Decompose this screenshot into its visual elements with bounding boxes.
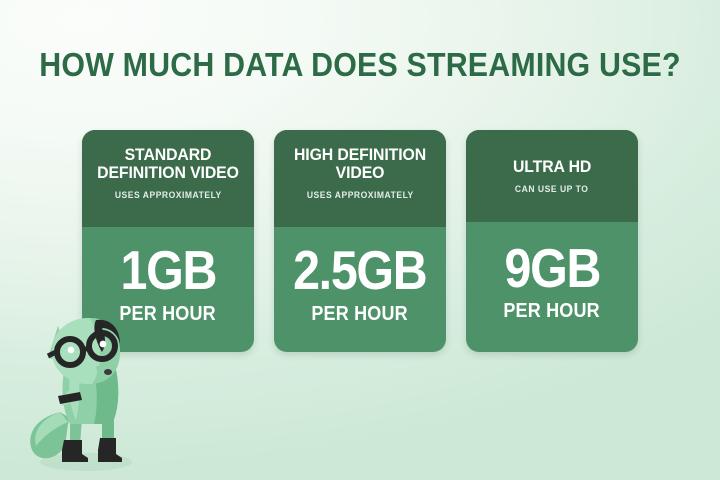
mascot-boot-left	[62, 440, 88, 462]
card-title: STANDARD DEFINITION VIDEO	[95, 146, 240, 181]
data-usage-card-high-definition: HIGH DEFINITION VIDEO USES APPROXIMATELY…	[274, 130, 446, 352]
card-subtitle: CAN USE UP TO	[515, 184, 588, 194]
card-header: HIGH DEFINITION VIDEO USES APPROXIMATELY	[274, 130, 446, 227]
card-subtitle: USES APPROXIMATELY	[307, 190, 414, 200]
card-title: ULTRA HD	[513, 146, 591, 176]
card-amount-value: 1GB	[120, 245, 216, 296]
card-amount-unit: PER HOUR	[504, 300, 600, 323]
mascot-boot-right	[98, 438, 122, 462]
fox-mascot-illustration	[18, 300, 158, 480]
infographic-canvas: HOW MUCH DATA DOES STREAMING USE? STANDA…	[0, 0, 720, 480]
data-usage-card-ultra-hd: ULTRA HD CAN USE UP TO 9GB PER HOUR	[466, 130, 638, 352]
card-subtitle: USES APPROXIMATELY	[115, 190, 222, 200]
card-amount-unit: PER HOUR	[312, 303, 408, 326]
mascot-nose	[104, 369, 112, 375]
mascot-eye-left	[68, 347, 75, 354]
card-header: ULTRA HD CAN USE UP TO	[466, 130, 638, 222]
card-title: HIGH DEFINITION VIDEO	[287, 146, 432, 181]
card-amount-value: 2.5GB	[293, 245, 426, 296]
card-body: 9GB PER HOUR	[466, 222, 638, 352]
data-usage-card-list: STANDARD DEFINITION VIDEO USES APPROXIMA…	[82, 130, 638, 352]
card-amount-value: 9GB	[504, 243, 600, 294]
card-body: 2.5GB PER HOUR	[274, 227, 446, 352]
mascot-eye-right	[100, 341, 107, 348]
card-header: STANDARD DEFINITION VIDEO USES APPROXIMA…	[82, 130, 254, 227]
page-title: HOW MUCH DATA DOES STREAMING USE?	[29, 48, 691, 81]
